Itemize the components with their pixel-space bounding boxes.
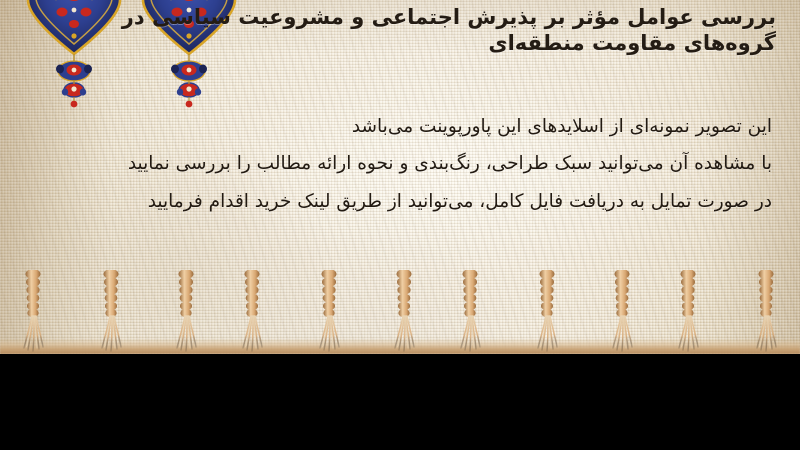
fringe-tassel (530, 270, 560, 356)
fringe-tassel (21, 270, 51, 356)
slide-title: بررسی عوامل مؤثر بر پذیرش اجتماعی و مشرو… (16, 4, 776, 56)
tassel-icon (94, 270, 124, 356)
fringe-tassel (676, 270, 706, 356)
tassel-icon (458, 270, 488, 356)
fringe-tassel (458, 270, 488, 356)
presentation-slide: بررسی عوامل مؤثر بر پذیرش اجتماعی و مشرو… (0, 0, 800, 450)
body-line-3: در صورت تمایل به دریافت فایل کامل، می‌تو… (16, 183, 772, 220)
fringe-tassel (312, 270, 342, 356)
slide-body: این تصویر نمونه‌ای از اسلایدهای این پاور… (16, 108, 772, 220)
fringe-tassel (603, 270, 633, 356)
fringe-tassel (385, 270, 415, 356)
tassel-icon (167, 270, 197, 356)
tassel-icon (21, 270, 51, 356)
fringe-tassel (240, 270, 270, 356)
body-line-2: با مشاهده آن می‌توانید سبک طراحی، رنگ‌بن… (16, 145, 772, 182)
tassel-icon (749, 270, 779, 356)
fringe-tassel (749, 270, 779, 356)
tassel-icon (676, 270, 706, 356)
fringe-tassel (94, 270, 124, 356)
title-line-2: گروه‌های مقاومت منطقه‌ای (16, 30, 776, 56)
body-line-1: این تصویر نمونه‌ای از اسلایدهای این پاور… (16, 108, 772, 145)
tassel-icon (312, 270, 342, 356)
fringe-tassel (167, 270, 197, 356)
tassel-icon (240, 270, 270, 356)
tassel-icon (385, 270, 415, 356)
title-line-1: بررسی عوامل مؤثر بر پذیرش اجتماعی و مشرو… (16, 4, 776, 30)
carpet-black-border (0, 354, 800, 450)
tassel-icon (530, 270, 560, 356)
tassel-icon (603, 270, 633, 356)
